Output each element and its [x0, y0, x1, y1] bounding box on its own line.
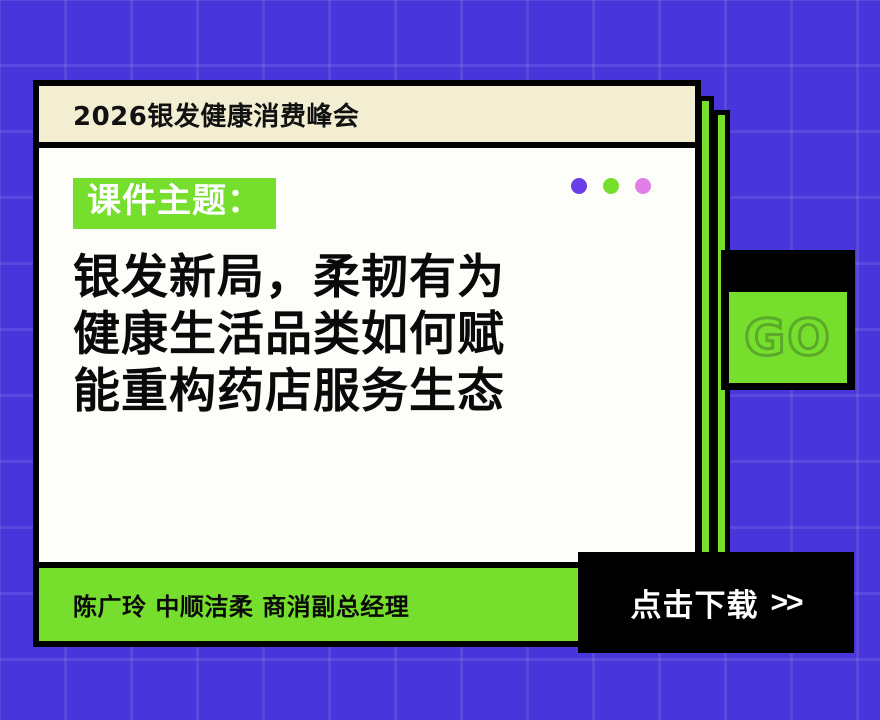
headline-line-1: 银发新局，柔韧有为 — [73, 249, 661, 306]
go-badge-label: GO — [744, 313, 832, 363]
headline-line-3: 能重构药店服务生态 — [73, 363, 661, 420]
decorative-dots — [571, 178, 651, 194]
poster-canvas: GO 2026银发健康消费峰会 课件主题： 银发新局，柔韧有为 健康生活品类如何… — [0, 0, 880, 720]
subject-label-tag: 课件主题： — [73, 178, 276, 229]
dot-green-icon — [603, 178, 619, 194]
double-chevron-right-icon: >> — [770, 586, 801, 620]
course-headline: 银发新局，柔韧有为 健康生活品类如何赋 能重构药店服务生态 — [73, 249, 661, 421]
card-header: 2026银发健康消费峰会 — [39, 86, 695, 148]
dot-pink-icon — [635, 178, 651, 194]
dot-purple-icon — [571, 178, 587, 194]
download-button-text: 点击下载 — [630, 580, 758, 625]
subject-label-text: 课件主题： — [87, 181, 262, 221]
go-badge-inner: GO — [729, 292, 847, 383]
summit-title: 2026银发健康消费峰会 — [73, 96, 359, 133]
go-badge[interactable]: GO — [721, 250, 855, 390]
card-body: 课件主题： 银发新局，柔韧有为 健康生活品类如何赋 能重构药店服务生态 — [39, 148, 695, 562]
download-button[interactable]: 点击下载 >> — [578, 552, 854, 653]
download-button-label: 点击下载 >> — [630, 580, 801, 625]
headline-line-2: 健康生活品类如何赋 — [73, 306, 661, 363]
speaker-info: 陈广玲 中顺洁柔 商消副总经理 — [73, 587, 409, 622]
